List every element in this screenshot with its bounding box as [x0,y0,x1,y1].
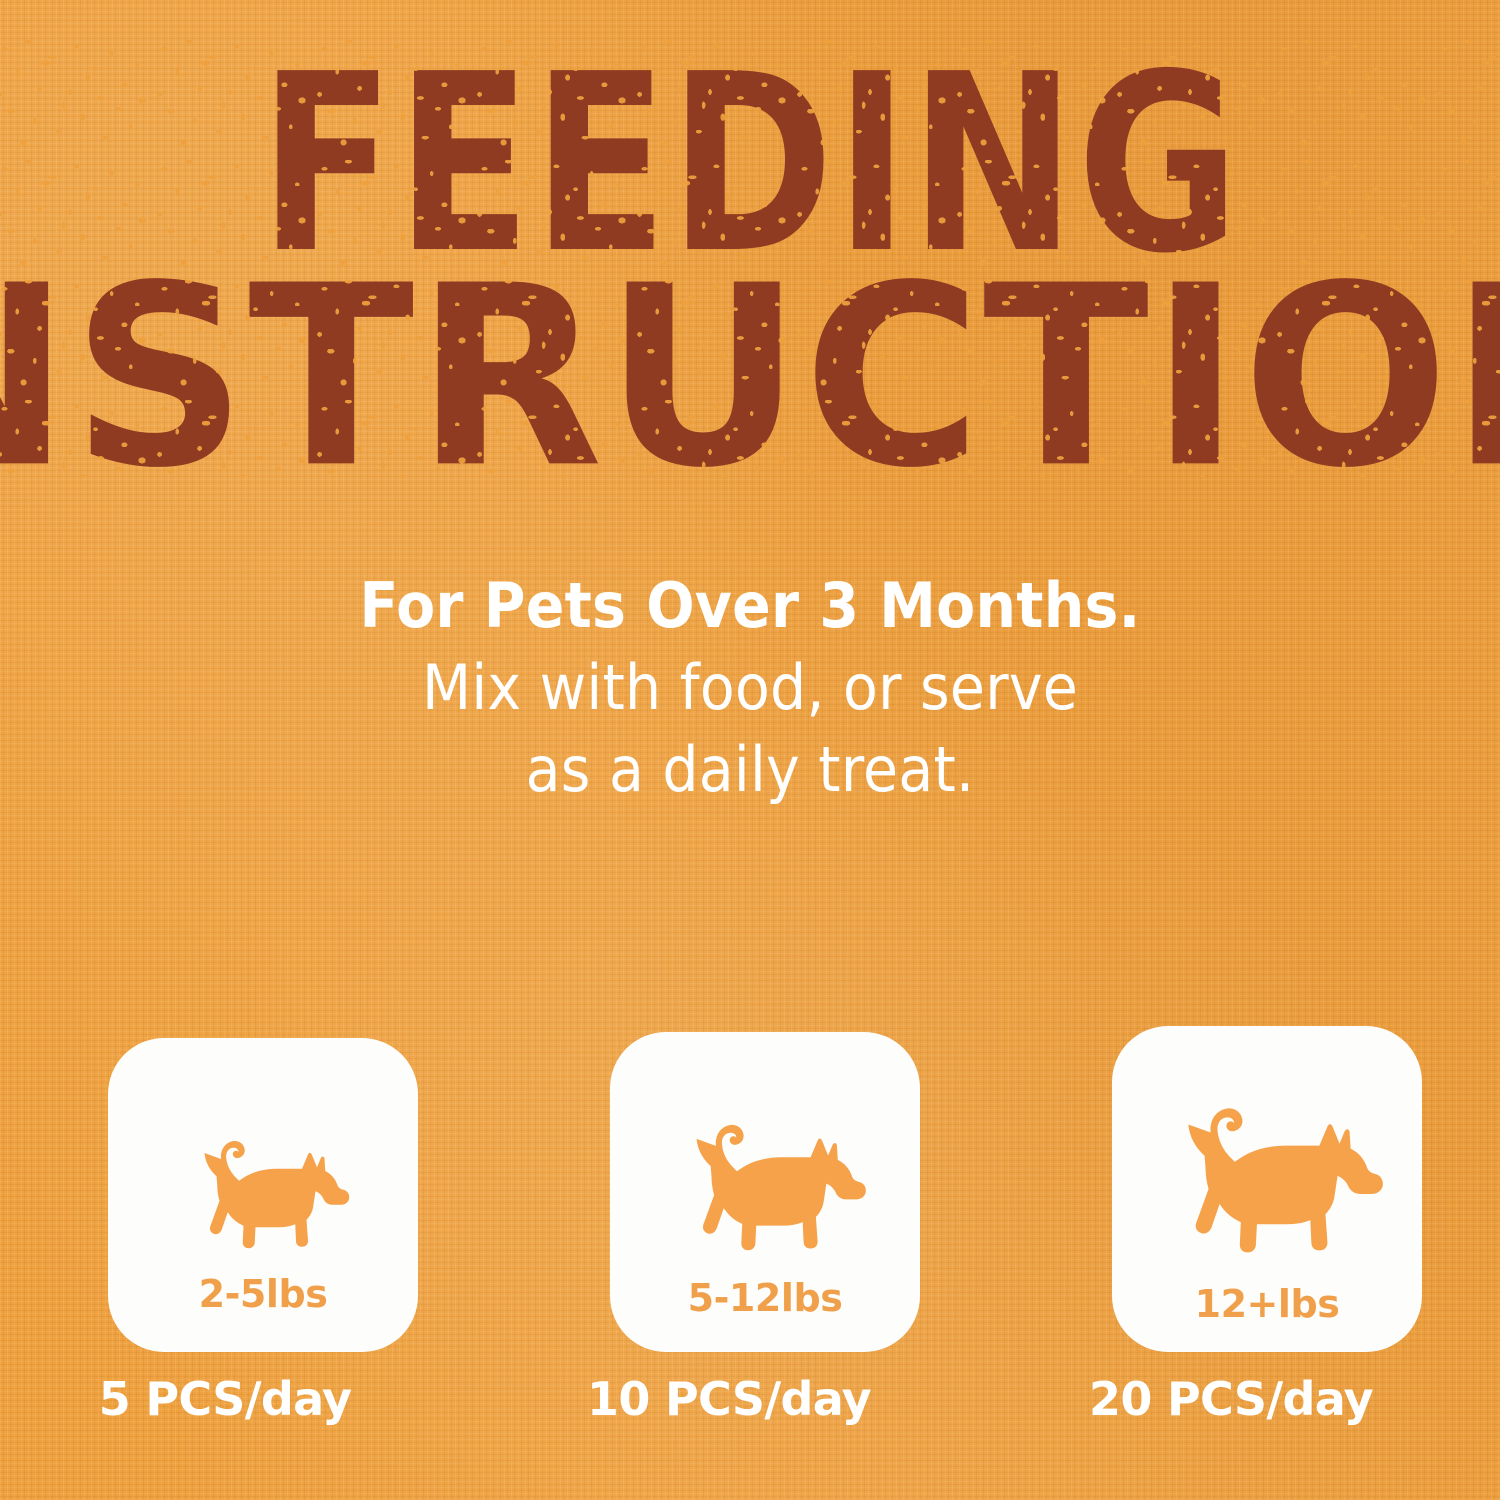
feeding-chart-cards: 2-5lbs 5-12lbs 12+lbs [108,1026,1422,1352]
cat-silhouette-icon [610,1072,920,1290]
instructions-line-2: Mix with food, or serve [0,657,1500,719]
feeding-instructions-poster: FEEDING INSTRUCTIONS For Pets Over 3 Mon… [0,0,1500,1500]
dosage-label-large: 20 PCS/day [1076,1372,1386,1426]
card-surface: 5-12lbs [610,1032,920,1352]
page-title: FEEDING INSTRUCTIONS [0,52,1500,457]
card-weight-label: 12+lbs [1112,1282,1422,1326]
cat-silhouette-icon [108,1096,418,1282]
instructions-text: For Pets Over 3 Months. Mix with food, o… [0,575,1500,801]
feeding-card-large: 12+lbs [1112,1026,1422,1352]
instructions-line-1: For Pets Over 3 Months. [0,575,1500,637]
card-surface: 2-5lbs [108,1038,418,1352]
cat-silhouette-icon [1112,1048,1422,1298]
card-weight-label: 2-5lbs [108,1272,418,1316]
page-title-line-2: INSTRUCTIONS [0,263,1500,495]
dosage-labels: 5 PCS/day 10 PCS/day 20 PCS/day [108,1372,1422,1452]
card-surface: 12+lbs [1112,1026,1422,1352]
feeding-card-small: 2-5lbs [108,1026,418,1352]
card-weight-label: 5-12lbs [610,1276,920,1320]
dosage-label-medium: 10 PCS/day [574,1372,884,1426]
instructions-line-3: as a daily treat. [0,739,1500,801]
dosage-label-small: 5 PCS/day [70,1372,380,1426]
feeding-card-medium: 5-12lbs [610,1026,920,1352]
